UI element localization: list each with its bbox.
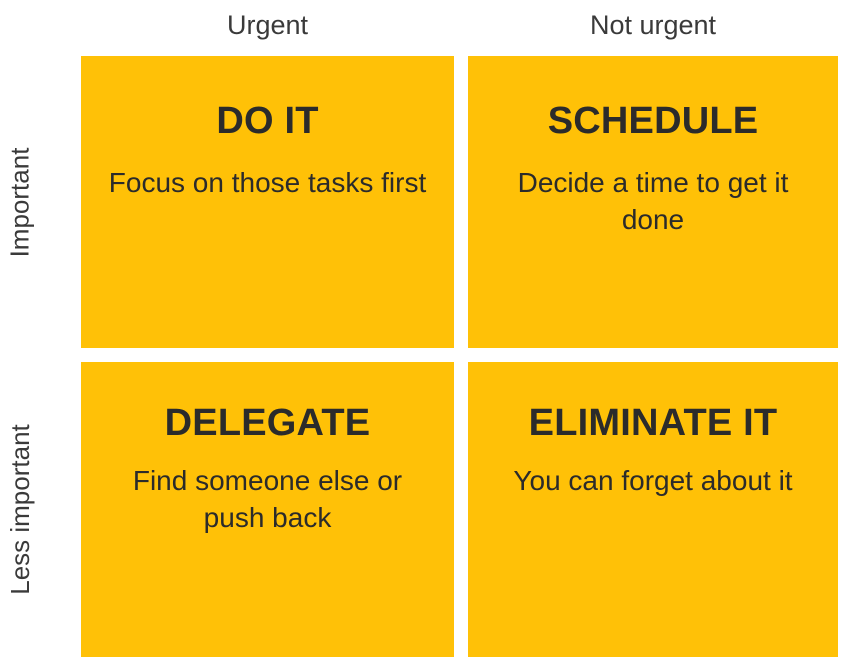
quadrant-eliminate-it-description: You can forget about it — [486, 445, 820, 500]
column-header-not-urgent: Not urgent — [468, 4, 838, 46]
quadrant-do-it-description: Focus on those tasks first — [99, 143, 436, 202]
row-label-important-text: Important — [5, 147, 36, 257]
quadrant-schedule-description: Decide a time to get it done — [486, 143, 820, 239]
quadrant-do-it-title: DO IT — [99, 56, 436, 143]
quadrant-schedule-title: SCHEDULE — [486, 56, 820, 143]
row-label-important: Important — [0, 56, 40, 348]
quadrant-eliminate-it-title: ELIMINATE IT — [486, 362, 820, 445]
eisenhower-matrix: Urgent Not urgent Important Less importa… — [0, 0, 849, 657]
quadrant-delegate-title: DELEGATE — [99, 362, 436, 445]
row-label-less-important: Less important — [0, 362, 40, 657]
quadrant-schedule: SCHEDULE Decide a time to get it done — [468, 56, 838, 348]
quadrant-delegate: DELEGATE Find someone else or push back — [81, 362, 454, 657]
quadrant-delegate-description: Find someone else or push back — [99, 445, 436, 537]
quadrant-do-it: DO IT Focus on those tasks first — [81, 56, 454, 348]
row-label-less-important-text: Less important — [5, 424, 36, 595]
column-header-urgent: Urgent — [81, 4, 454, 46]
quadrant-eliminate-it: ELIMINATE IT You can forget about it — [468, 362, 838, 657]
